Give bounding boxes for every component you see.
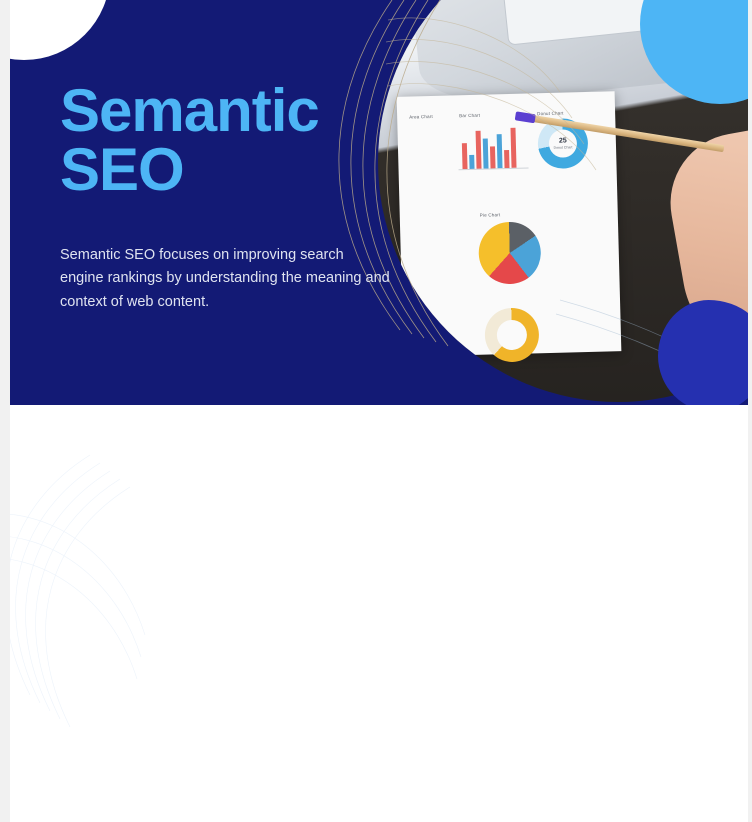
- area-chart-label: Area Chart: [409, 114, 433, 120]
- page-root: Area Chart Bar Chart Donut Chart 25 Do: [0, 0, 752, 822]
- page-left-gutter: [0, 0, 10, 822]
- hero-blue-blob-decoration: [658, 300, 752, 405]
- hero-corner-notch-decoration: [0, 0, 110, 60]
- pie-chart-label: Pie Chart: [480, 212, 501, 218]
- page-title-line-1: Semantic: [60, 77, 319, 144]
- hero-subtitle: Semantic SEO focuses on improving search…: [60, 244, 390, 314]
- donut-chart-caption: Donut Chart: [538, 145, 588, 150]
- page-right-gutter: [748, 0, 752, 822]
- hero-section: Area Chart Bar Chart Donut Chart 25 Do: [0, 0, 752, 405]
- analytics-report-paper: Area Chart Bar Chart Donut Chart 25 Do: [397, 91, 622, 357]
- bar-chart-graphic: [461, 124, 524, 170]
- hero-text-block: Semantic SEO Semantic SEO focuses on imp…: [60, 82, 390, 314]
- pie-chart-graphic: [478, 221, 542, 285]
- page-title-line-2: SEO: [60, 136, 184, 203]
- left-swirl-decoration: [0, 445, 170, 775]
- donut-chart-value: 25: [538, 137, 588, 145]
- page-title: Semantic SEO: [60, 82, 390, 200]
- bar-chart-label: Bar Chart: [459, 113, 480, 119]
- cards-section: 1 Keyword Research Identify relevant key…: [0, 405, 752, 822]
